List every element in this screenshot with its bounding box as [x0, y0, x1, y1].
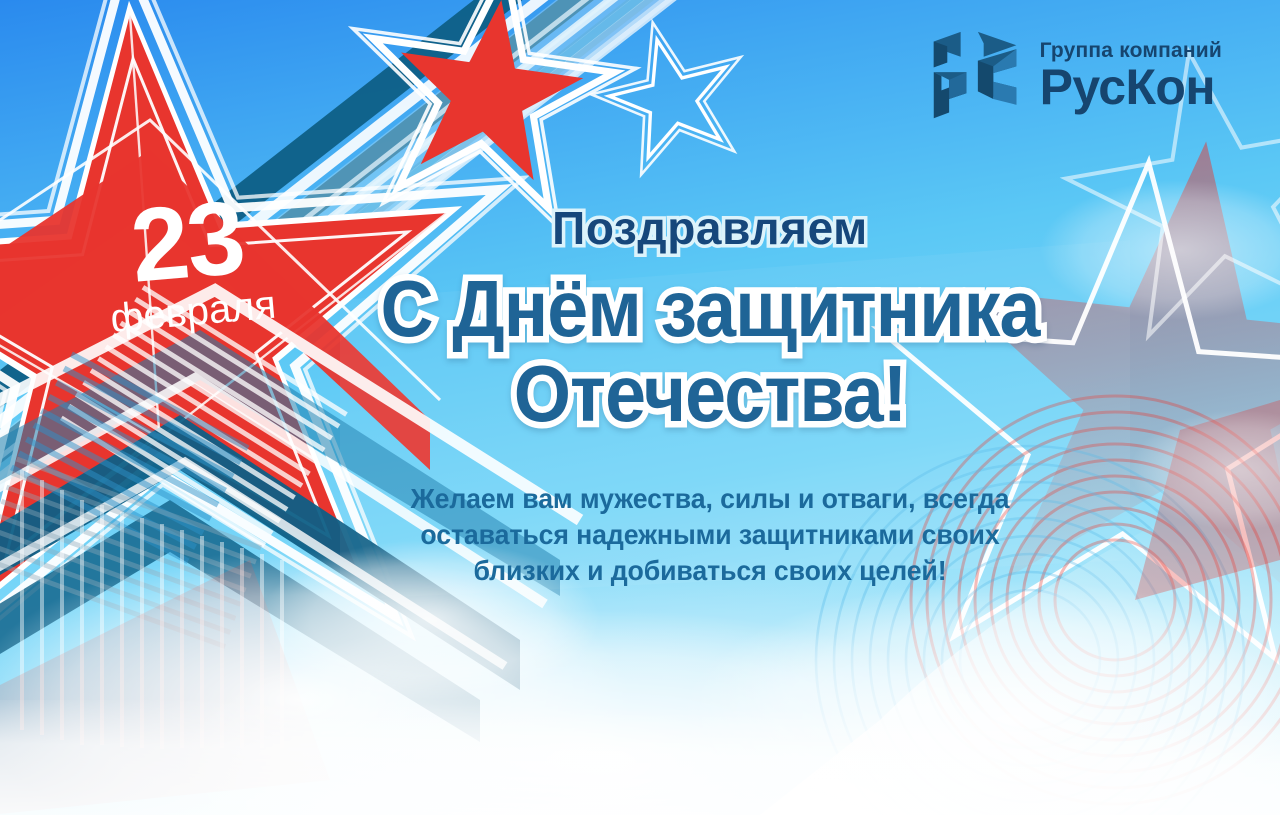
left-vertical-curtain	[20, 470, 284, 749]
wish-line-1: Желаем вам мужества, силы и отваги, всег…	[411, 483, 1010, 514]
wish-line-2: оставаться надежными защитниками своих	[420, 519, 999, 550]
lower-left-red-wedge	[0, 560, 330, 815]
logo-subtitle: Группа компаний	[1040, 40, 1222, 61]
small-red-star	[386, 0, 592, 185]
cloud-mid	[180, 610, 1020, 815]
kicker-text: Поздравляем	[330, 205, 1090, 251]
greeting-card: 23 февраля Поздравляем С Днём защитника …	[0, 0, 1280, 815]
date-badge: 23 февраля	[69, 186, 310, 341]
cloud-small-c	[1130, 410, 1280, 530]
cloud-right	[680, 580, 1280, 815]
logo-name: РусКон	[1040, 64, 1215, 112]
cloud-left	[0, 550, 630, 815]
brand-logo[interactable]: Группа компаний РусКон	[928, 28, 1222, 124]
outline-star	[578, 4, 763, 182]
ruscon-cube-monogram-icon	[928, 28, 1024, 124]
headline-line-2: Отечества!	[360, 354, 1059, 433]
page-title: С Днём защитника Отечества!	[360, 269, 1059, 433]
logo-wordmark: Группа компаний РусКон	[1040, 40, 1222, 112]
headline-line-1: С Днём защитника	[380, 264, 1039, 353]
wish-line-3: близких и добиваться своих целей!	[473, 555, 946, 586]
wish-text: Желаем вам мужества, силы и отваги, всег…	[341, 481, 1078, 588]
right-red-sliver	[1135, 400, 1280, 600]
small-red-star-outline	[329, 0, 650, 236]
left-hatch-stripes	[0, 285, 348, 649]
message-block: Поздравляем С Днём защитника Отечества! …	[330, 205, 1090, 589]
bottom-haze	[0, 700, 1280, 815]
